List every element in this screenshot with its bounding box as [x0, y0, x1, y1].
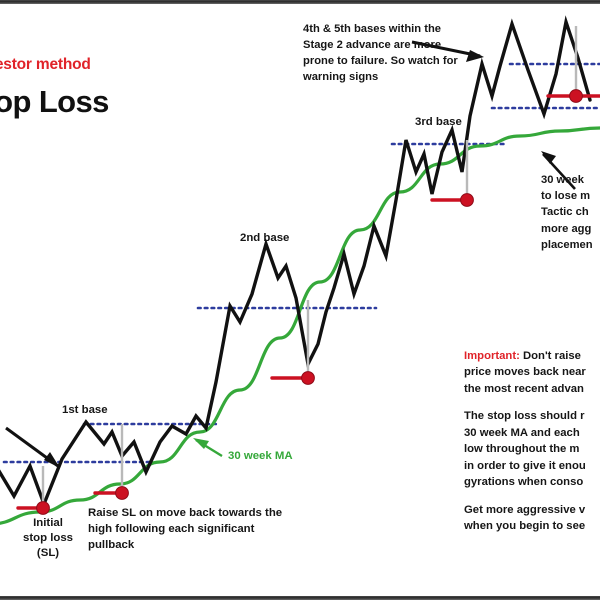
- side-copy-line: when you begin to see: [464, 518, 600, 534]
- ma-note-line: placemen: [541, 237, 600, 253]
- side-copy-line: gyrations when conso: [464, 474, 600, 490]
- initial-sl-line: Initial: [8, 516, 88, 531]
- slide-canvas: sis Investor method g Stop Loss rt 4th &…: [0, 4, 600, 596]
- side-copy-paragraph-2: The stop loss should r 30 week MA and ea…: [464, 408, 600, 490]
- initial-sl-line: (SL): [8, 546, 88, 561]
- annotation-raise-sl: Raise SL on move back towards the high f…: [88, 506, 288, 554]
- label-1st-base: 1st base: [62, 404, 108, 416]
- side-copy-line: price moves back near: [464, 364, 600, 380]
- side-copy-line-text: Don't raise: [520, 350, 581, 362]
- label-initial-stop-loss: Initial stop loss (SL): [8, 516, 88, 561]
- stop-marker-dot: [461, 194, 474, 207]
- arrow-ma-tag: [193, 438, 222, 456]
- side-copy-paragraph-1: Important: Don't raise price moves back …: [464, 348, 600, 397]
- side-copy-paragraph-3: Get more aggressive v when you begin to …: [464, 502, 600, 535]
- stop-marker-dot: [37, 502, 50, 515]
- kicker-text: sis Investor method: [0, 56, 208, 74]
- side-copy-line: Important: Don't raise: [464, 348, 600, 364]
- annotation-ma-note: 30 week to lose m Tactic ch more agg pla…: [541, 172, 600, 253]
- side-copy-line: 30 week MA and each: [464, 425, 600, 441]
- important-label: Important:: [464, 350, 520, 362]
- label-2nd-base: 2nd base: [240, 232, 289, 244]
- side-copy-line: Get more aggressive v: [464, 502, 600, 518]
- stop-marker-dot: [570, 90, 583, 103]
- ma-note-line: more agg: [541, 221, 600, 237]
- bottom-border-strip: [0, 596, 600, 600]
- label-3rd-base: 3rd base: [415, 116, 462, 128]
- ma-note-line: Tactic ch: [541, 204, 600, 220]
- side-copy-block: Important: Don't raise price moves back …: [464, 348, 600, 535]
- side-copy-line: The stop loss should r: [464, 408, 600, 424]
- initial-sl-line: stop loss: [8, 531, 88, 546]
- side-copy-line: the most recent advan: [464, 381, 600, 397]
- stop-marker-dot: [302, 372, 315, 385]
- stop-marker-dot: [116, 487, 129, 500]
- side-copy-line: in order to give it enou: [464, 458, 600, 474]
- side-copy-line: low throughout the m: [464, 441, 600, 457]
- annotation-top-warning: 4th & 5th bases within the Stage 2 advan…: [303, 22, 473, 86]
- page-title: g Stop Loss: [0, 86, 238, 119]
- label-30-week-ma: 30 week MA: [228, 450, 293, 462]
- ma-note-line: to lose m: [541, 188, 600, 204]
- subtitle-text: rt: [0, 144, 156, 160]
- ma-note-line: 30 week: [541, 172, 600, 188]
